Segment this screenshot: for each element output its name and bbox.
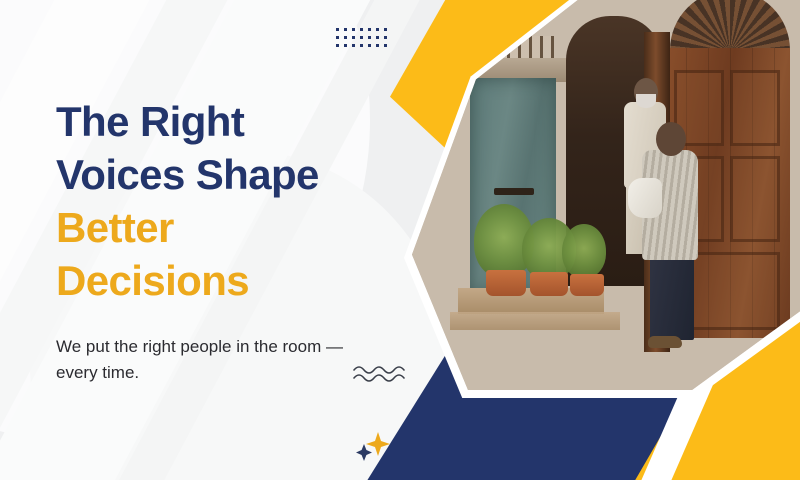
photo-pot <box>570 274 604 296</box>
dot-grid-icon <box>336 28 392 52</box>
headline-line-4: Decisions <box>56 257 249 304</box>
headline-line-2: Voices Shape <box>56 151 319 198</box>
photo-door-panel <box>730 70 780 146</box>
photo-plant <box>562 224 606 278</box>
photo-door-panel <box>730 156 780 242</box>
subtitle: We put the right people in the room — ev… <box>56 334 386 387</box>
headline-line-3: Better <box>56 204 174 251</box>
text-content: The Right Voices Shape Better Decisions … <box>56 96 386 386</box>
photo-figure-beard <box>636 94 656 108</box>
photo-pot <box>486 270 526 296</box>
headline-line-1: The Right <box>56 98 244 145</box>
promo-banner: The Right Voices Shape Better Decisions … <box>0 0 800 480</box>
page-title: The Right Voices Shape Better Decisions <box>56 96 386 308</box>
photo-figure-bundle <box>628 178 662 218</box>
photo-door-handle <box>494 188 534 195</box>
photo-figure-shoe <box>648 336 682 348</box>
wave-lines-icon <box>352 362 408 386</box>
photo-figure-head <box>656 122 686 156</box>
photo-figure-legs <box>650 254 694 340</box>
photo-step <box>450 312 620 330</box>
photo-pot <box>530 272 568 296</box>
sparkle-stars-icon <box>352 428 396 464</box>
photo-fanlight <box>670 0 790 52</box>
